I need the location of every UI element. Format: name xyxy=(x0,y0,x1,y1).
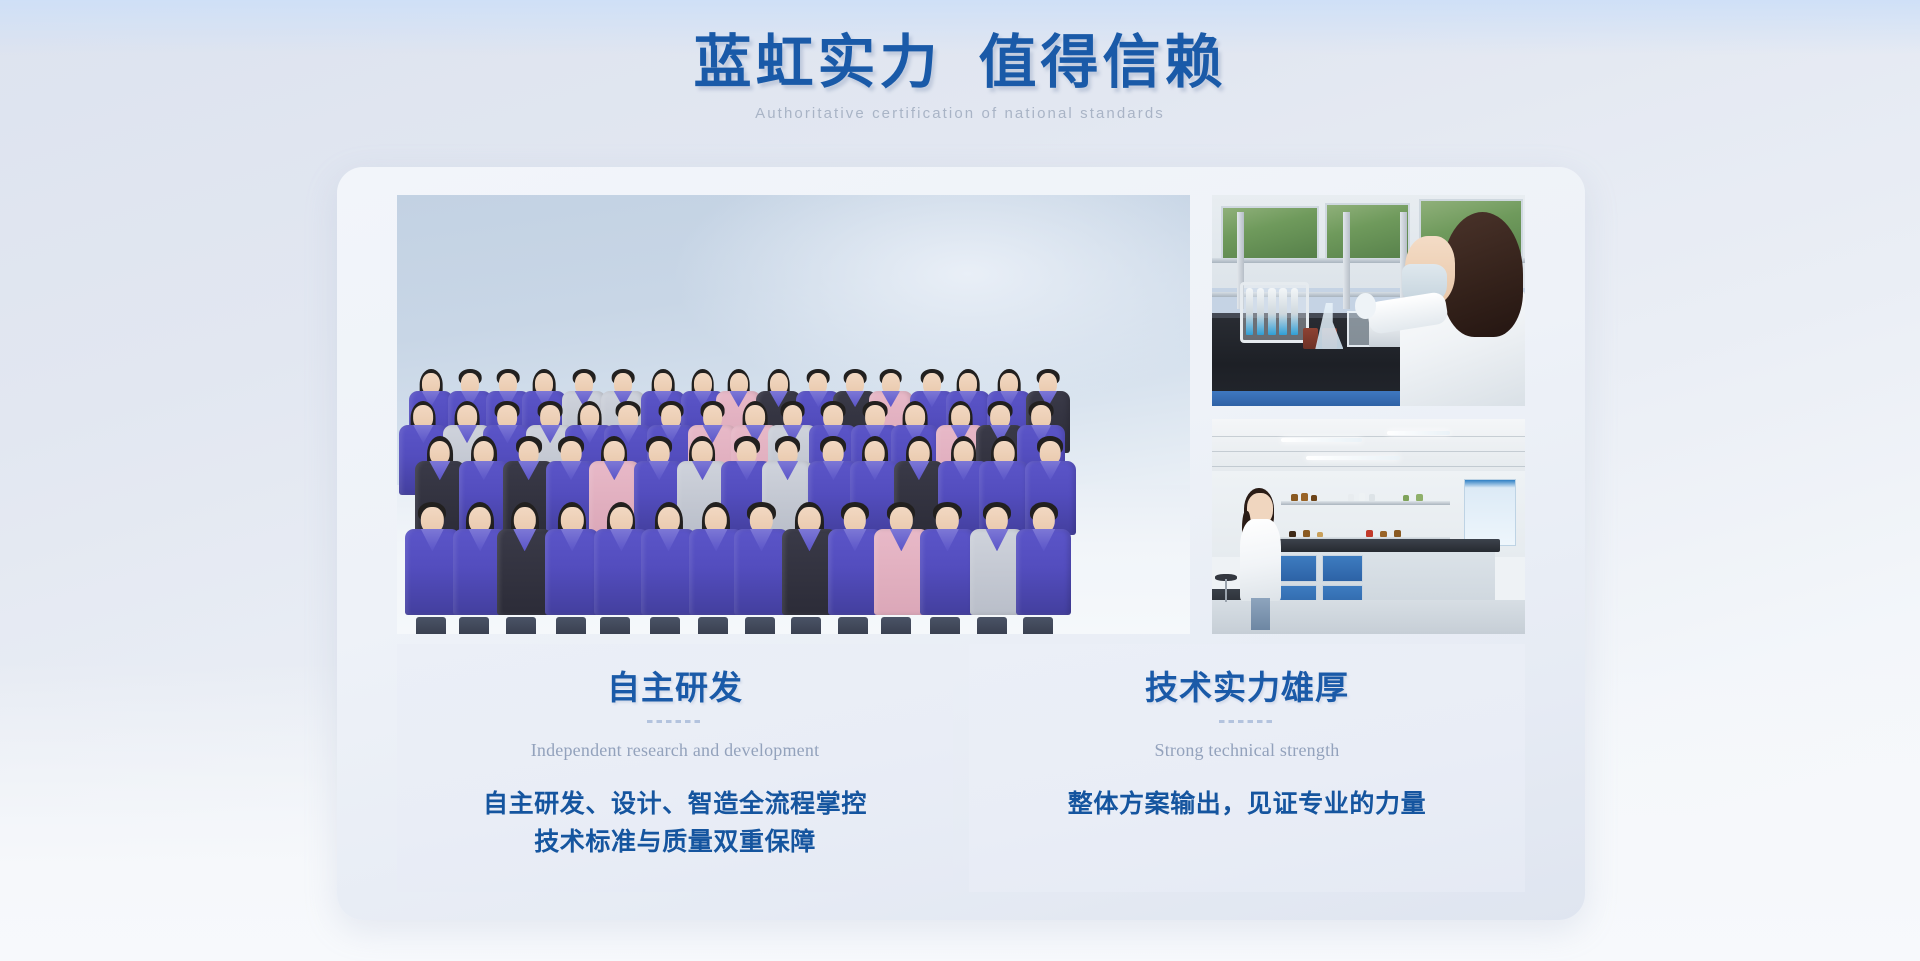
pipette-rack xyxy=(1240,282,1309,343)
feature-card-title: 自主研发 xyxy=(397,666,953,712)
lab-window xyxy=(1325,203,1410,262)
team-member-legs xyxy=(414,611,448,634)
team-member xyxy=(920,502,975,615)
feature-card-subtitle: Independent research and development xyxy=(397,738,953,762)
pipette xyxy=(1279,288,1287,335)
section-heading: 蓝虹实力 值得信赖 Authoritative certification of… xyxy=(0,28,1920,124)
team-member-legs xyxy=(598,611,632,634)
strength-section-page: 蓝虹实力 值得信赖 Authoritative certification of… xyxy=(0,0,1920,961)
feature-card-independent-rd: 自主研发 Independent research and developmen… xyxy=(397,644,953,892)
team-member xyxy=(545,502,600,615)
team-group-photo xyxy=(397,195,1190,634)
pipette xyxy=(1268,288,1276,335)
pipette xyxy=(1291,288,1299,335)
lab-bench-cabinet xyxy=(1212,391,1406,406)
team-member-legs xyxy=(1021,611,1055,634)
feature-card-technical-strength: 技术实力雄厚 Strong technical strength 整体方案输出，… xyxy=(969,644,1525,892)
lab-coat xyxy=(1240,519,1281,601)
ceiling-light xyxy=(1306,456,1400,460)
lab-technician xyxy=(1400,203,1525,406)
content-panel: 自主研发 Independent research and developmen… xyxy=(337,167,1585,920)
feature-card-body: 整体方案输出，见证专业的力量 xyxy=(969,786,1525,824)
lab-room-photo xyxy=(1212,419,1525,634)
team-member-legs xyxy=(975,611,1009,634)
pipette xyxy=(1257,288,1265,335)
lab-stool xyxy=(1215,574,1237,602)
lab-bench-scene xyxy=(1212,195,1525,406)
group-photo-people xyxy=(397,195,1190,634)
feature-card-divider xyxy=(647,720,703,723)
team-member xyxy=(405,502,460,615)
team-member-legs xyxy=(554,611,588,634)
lab-room-scene xyxy=(1212,419,1525,634)
feature-card-body: 自主研发、设计、智造全流程掌控 技术标准与质量双重保障 xyxy=(397,786,953,862)
feature-card-list: 自主研发 Independent research and developmen… xyxy=(397,644,1525,892)
feature-card-subtitle: Strong technical strength xyxy=(969,738,1525,762)
team-member xyxy=(641,502,696,615)
team-member-legs xyxy=(743,611,777,634)
team-member-legs xyxy=(457,611,491,634)
group-photo-backdrop xyxy=(397,195,1190,634)
team-member-legs xyxy=(696,611,730,634)
team-member xyxy=(1016,502,1071,615)
team-member-legs xyxy=(504,611,538,634)
team-member xyxy=(734,502,789,615)
glove xyxy=(1355,293,1376,319)
researcher-legs xyxy=(1251,598,1271,629)
feature-card-title: 技术实力雄厚 xyxy=(969,666,1525,712)
page-subtitle: Authoritative certification of national … xyxy=(0,104,1920,124)
island-bench-top xyxy=(1256,539,1500,551)
pipette xyxy=(1246,288,1254,335)
feature-card-divider xyxy=(1219,720,1275,723)
ceiling-light xyxy=(1281,438,1362,442)
team-member-legs xyxy=(648,611,682,634)
team-member-legs xyxy=(789,611,823,634)
lab-bench-photo xyxy=(1212,195,1525,406)
team-member xyxy=(497,502,552,615)
team-member-legs xyxy=(928,611,962,634)
team-member-legs xyxy=(879,611,913,634)
page-title: 蓝虹实力 值得信赖 xyxy=(0,28,1920,98)
feature-card-body-line: 技术标准与质量双重保障 xyxy=(397,824,953,862)
photo-grid xyxy=(397,195,1525,634)
lab-researcher xyxy=(1240,488,1281,630)
lab-ceiling xyxy=(1212,419,1525,475)
ceiling-light xyxy=(1387,431,1450,435)
feature-card-body-line: 自主研发、设计、智造全流程掌控 xyxy=(397,786,953,824)
lab-shelf-post xyxy=(1343,212,1350,309)
reagent-shelf xyxy=(1281,501,1450,505)
safety-poster xyxy=(1464,479,1516,546)
team-member-legs xyxy=(836,611,870,634)
feature-card-body-line: 整体方案输出，见证专业的力量 xyxy=(969,786,1525,824)
